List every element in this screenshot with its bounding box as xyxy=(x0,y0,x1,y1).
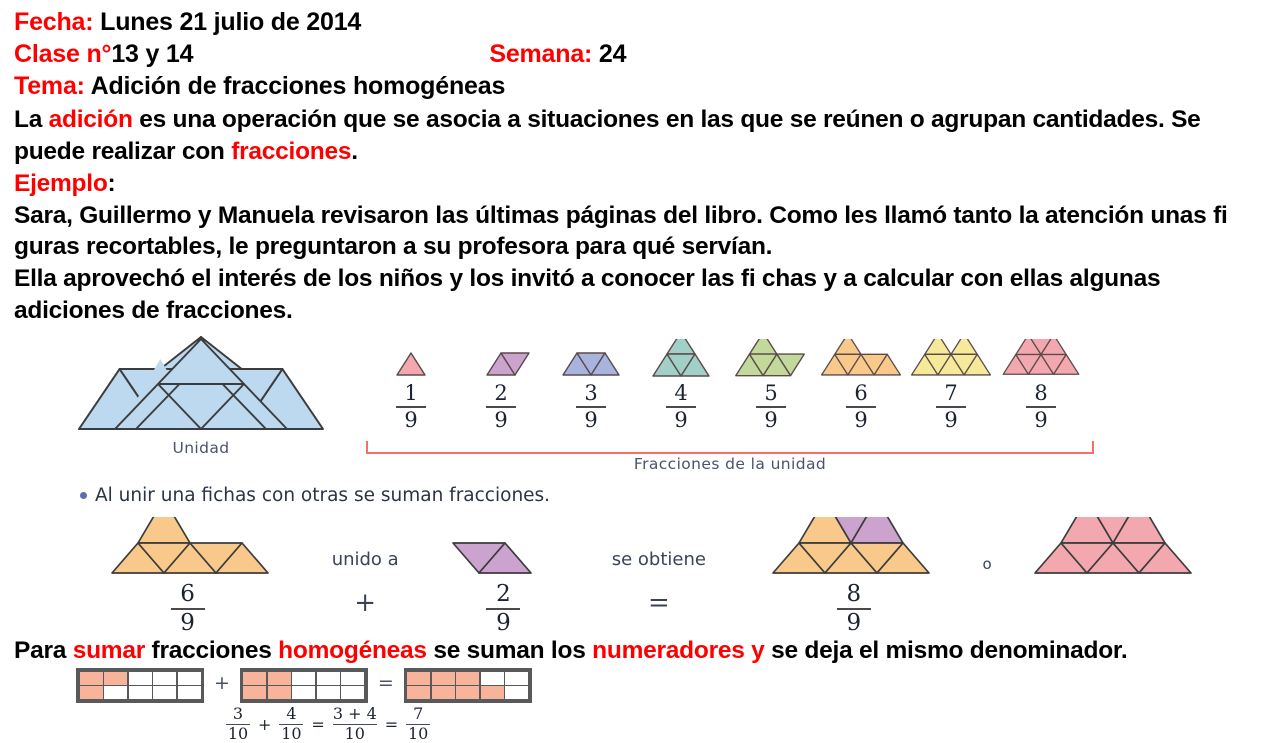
conclusion-paragraph: Para sumar fracciones homogéneas se suma… xyxy=(14,635,1268,666)
ejemplo-heading: Ejemplo: xyxy=(14,168,1268,200)
fraction-label-5: 5 9 xyxy=(726,383,816,432)
grid-cell xyxy=(243,686,266,699)
story-paragraph-1: Sara, Guillermo y Manuela revisaron las … xyxy=(14,200,1268,264)
shape-2-9-icon xyxy=(443,515,563,575)
numerator-6: 6 xyxy=(854,381,867,405)
fraction-label-6: 6 9 xyxy=(816,383,906,432)
grid-cell xyxy=(243,672,266,685)
denominator-2: 9 xyxy=(494,408,507,432)
bm-eq-plus: + xyxy=(257,715,272,734)
bar-model-grids-row: + = xyxy=(76,668,1268,703)
intro-text-c: es una operación que se asocia a situaci… xyxy=(14,106,1201,165)
grid-cell xyxy=(153,686,176,699)
equation-connector-2: se obtiene = xyxy=(577,515,740,618)
grid-cell xyxy=(268,686,291,699)
conclusion-g: se deja el mismo denominador. xyxy=(765,637,1128,664)
bm-den-3: 10 xyxy=(408,726,428,743)
bm-fraction-sum: 3 + 4 10 xyxy=(333,706,377,743)
grid-cell xyxy=(178,672,201,685)
denominator-3: 9 xyxy=(584,408,597,432)
tema-label: Tema: xyxy=(14,72,85,100)
grid-cell xyxy=(104,686,127,699)
intro-keyword-fracciones: fracciones xyxy=(231,138,351,165)
grid-cell xyxy=(178,686,201,699)
clase-semana-line: Clase n°13 y 14 Semana: 24 xyxy=(14,38,1268,70)
equation-left-den: 9 xyxy=(180,610,195,636)
fraction-item-3: 3 9 xyxy=(546,339,636,432)
grid-cell xyxy=(129,672,152,685)
intro-paragraph: La adición es una operación que se asoci… xyxy=(14,104,1268,168)
bullet-line: Al unir una fichas con otras se suman fr… xyxy=(80,485,550,506)
grid-cell xyxy=(505,672,528,685)
conclusion-keyword-homogeneas: homogéneas xyxy=(278,637,427,664)
bm-bar-2 xyxy=(279,724,303,726)
numerator-5: 5 xyxy=(764,381,777,405)
fraction-item-4: 4 9 xyxy=(636,339,726,432)
bracket-cap-left xyxy=(366,441,368,454)
equation-word-o: o xyxy=(982,515,991,573)
numerator-7: 7 xyxy=(944,381,957,405)
shape-8-9-result-icon xyxy=(751,515,956,575)
fraction-item-1: 1 9 xyxy=(366,339,456,432)
fraction-item-8: 8 9 xyxy=(996,339,1086,432)
bar-model-area: + = xyxy=(76,668,1268,730)
strip-bracket xyxy=(366,441,1094,455)
bracket-cap-right xyxy=(1092,441,1094,454)
bracket-line xyxy=(366,452,1094,454)
semana-value: 24 xyxy=(599,38,626,70)
conclusion-keyword-sumar: sumar xyxy=(73,637,145,664)
bm-num-sum: 3 + 4 xyxy=(333,706,377,723)
fraction-label-2: 2 9 xyxy=(456,383,546,432)
tema-line: Tema: Adición de fracciones homogéneas xyxy=(14,70,1268,102)
grid-cell xyxy=(456,672,479,685)
ejemplo-colon: : xyxy=(108,170,116,197)
fraction-label-8: 8 9 xyxy=(996,383,1086,432)
fraction-strip: 1 9 2 xyxy=(366,339,1086,432)
fraction-item-2: 2 9 xyxy=(456,339,546,432)
bar-model-grid-1 xyxy=(76,668,204,703)
conclusion-e: se suman los xyxy=(427,637,592,664)
equation-equals-sign: = xyxy=(648,570,670,618)
bm-eq-equals-1: = xyxy=(310,715,325,734)
grid-cell xyxy=(80,672,103,685)
bm-bar-1 xyxy=(226,724,250,726)
fraction-label-1: 1 9 xyxy=(366,383,456,432)
grid-cell xyxy=(292,686,315,699)
bm-bar-3 xyxy=(406,724,430,726)
numerator-3: 3 xyxy=(584,381,597,405)
equation-plus-sign: + xyxy=(354,570,376,618)
fraction-item-7: 7 9 xyxy=(906,339,996,432)
denominator-5: 9 xyxy=(764,408,777,432)
bar-model-grid-3 xyxy=(404,668,532,703)
equation-term-result: 8 9 xyxy=(740,515,967,636)
numerator-2: 2 xyxy=(494,381,507,405)
grid-cell xyxy=(129,686,152,699)
bm-num-1: 3 xyxy=(233,706,243,723)
fraction-item-5: 5 9 xyxy=(726,339,816,432)
semana-label: Semana: xyxy=(489,38,592,70)
fraction-shape-8-icon xyxy=(996,339,1086,379)
bm-num-2: 4 xyxy=(286,706,296,723)
tema-value: Adición de fracciones homogéneas xyxy=(91,72,506,100)
fraction-label-3: 3 9 xyxy=(546,383,636,432)
grid-cell xyxy=(317,686,340,699)
bm-eq-equals-2: = xyxy=(384,715,399,734)
fraction-label-4: 4 9 xyxy=(636,383,726,432)
equation-left-num: 6 xyxy=(180,581,195,607)
bar-model-equals: = xyxy=(368,668,404,698)
fraction-shape-5-icon xyxy=(726,339,816,379)
unidad-triangle-icon xyxy=(76,333,326,433)
intro-keyword-adicion: adición xyxy=(49,106,133,133)
equation-connector-1: unido a + xyxy=(301,515,429,618)
equation-result-den: 9 xyxy=(846,610,861,636)
intro-text-e: . xyxy=(351,138,358,165)
equation-word-unido: unido a xyxy=(332,515,399,570)
strip-caption: Fracciones de la unidad xyxy=(634,455,826,473)
denominator-4: 9 xyxy=(674,408,687,432)
story-paragraph-2: Ella aprovechó el interés de los niños y… xyxy=(14,263,1268,327)
figure-area: Unidad 1 9 xyxy=(14,333,1268,633)
bar-model-plus: + xyxy=(204,668,240,698)
grid-cell xyxy=(505,686,528,699)
fraction-shape-2-icon xyxy=(456,339,546,379)
grid-cell xyxy=(104,672,127,685)
bm-fraction-3: 7 10 xyxy=(406,706,430,743)
bullet-dot-icon xyxy=(80,492,87,499)
grid-cell xyxy=(341,672,364,685)
denominator-6: 9 xyxy=(854,408,867,432)
grid-cell xyxy=(407,686,430,699)
equation-word-obtiene: se obtiene xyxy=(612,515,706,570)
ejemplo-label: Ejemplo xyxy=(14,170,108,197)
grid-cell xyxy=(317,672,340,685)
grid-cell xyxy=(268,672,291,685)
equation-mid-num: 2 xyxy=(496,581,511,607)
figure-top-row: Unidad 1 9 xyxy=(14,333,1268,483)
bm-fraction-1: 3 10 xyxy=(226,706,250,743)
grid-cell xyxy=(456,686,479,699)
unidad-figure: Unidad xyxy=(76,333,326,457)
equation-term-mid: 2 9 xyxy=(429,515,577,636)
fraction-shape-4-icon xyxy=(636,339,726,379)
bm-num-3: 7 xyxy=(413,706,423,723)
numerator-4: 4 xyxy=(674,381,687,405)
grid-cell xyxy=(481,686,504,699)
clase-label: Clase n° xyxy=(14,38,111,70)
lesson-page: Fecha: Lunes 21 julio de 2014 Clase n°13… xyxy=(0,0,1282,722)
denominator-1: 9 xyxy=(404,408,417,432)
equation-term-alt xyxy=(1007,515,1224,575)
fraction-shape-6-icon xyxy=(816,339,906,379)
equation-mid-den: 9 xyxy=(496,610,511,636)
fraction-item-6: 6 9 xyxy=(816,339,906,432)
fraction-shape-3-icon xyxy=(546,339,636,379)
strip-caption-wrap: Fracciones de la unidad xyxy=(366,455,1094,474)
conclusion-c: fracciones xyxy=(145,637,278,664)
fraction-shape-7-icon xyxy=(906,339,996,379)
unidad-caption: Unidad xyxy=(76,439,326,457)
intro-text-a: La xyxy=(14,106,49,133)
conclusion-a: Para xyxy=(14,637,73,664)
conclusion-keyword-numeradores: numeradores y xyxy=(592,637,764,664)
equation-fraction-result: 8 9 xyxy=(837,583,871,636)
numerator-1: 1 xyxy=(404,381,417,405)
equation-connector-3: o xyxy=(967,515,1006,573)
equation-fraction-mid: 2 9 xyxy=(486,583,520,636)
bar-model-equation: 3 10 + 4 10 = 3 + 4 10 = 7 10 xyxy=(226,706,1268,743)
grid-cell xyxy=(80,686,103,699)
bullet-text: Al unir una fichas con otras se suman fr… xyxy=(95,485,550,506)
grid-cell xyxy=(407,672,430,685)
grid-cell xyxy=(292,672,315,685)
grid-cell xyxy=(341,686,364,699)
denominator-7: 9 xyxy=(944,408,957,432)
fecha-line: Fecha: Lunes 21 julio de 2014 xyxy=(14,6,1268,38)
grid-cell xyxy=(153,672,176,685)
bm-den-sum: 10 xyxy=(345,726,365,743)
shape-6-9-icon xyxy=(90,515,286,575)
grid-cell xyxy=(432,686,455,699)
bm-den-1: 10 xyxy=(228,726,248,743)
fecha-value: Lunes 21 julio de 2014 xyxy=(100,8,361,36)
fraction-shape-1-icon xyxy=(366,339,456,379)
denominator-8: 9 xyxy=(1034,408,1047,432)
shape-8-9-alt-icon xyxy=(1013,515,1218,575)
bm-bar-sum xyxy=(333,724,377,726)
equation-result-num: 8 xyxy=(846,581,861,607)
bm-fraction-2: 4 10 xyxy=(279,706,303,743)
bm-den-2: 10 xyxy=(281,726,301,743)
numerator-8: 8 xyxy=(1034,381,1047,405)
fraction-label-7: 7 9 xyxy=(906,383,996,432)
grid-cell xyxy=(481,672,504,685)
grid-cell xyxy=(432,672,455,685)
equation-term-left: 6 9 xyxy=(74,515,301,636)
fecha-label: Fecha: xyxy=(14,8,93,36)
equation-row: 6 9 unido a + xyxy=(74,515,1224,636)
equation-fraction-left: 6 9 xyxy=(171,583,205,636)
clase-value: 13 y 14 xyxy=(111,38,193,70)
bar-model-grid-2 xyxy=(240,668,368,703)
